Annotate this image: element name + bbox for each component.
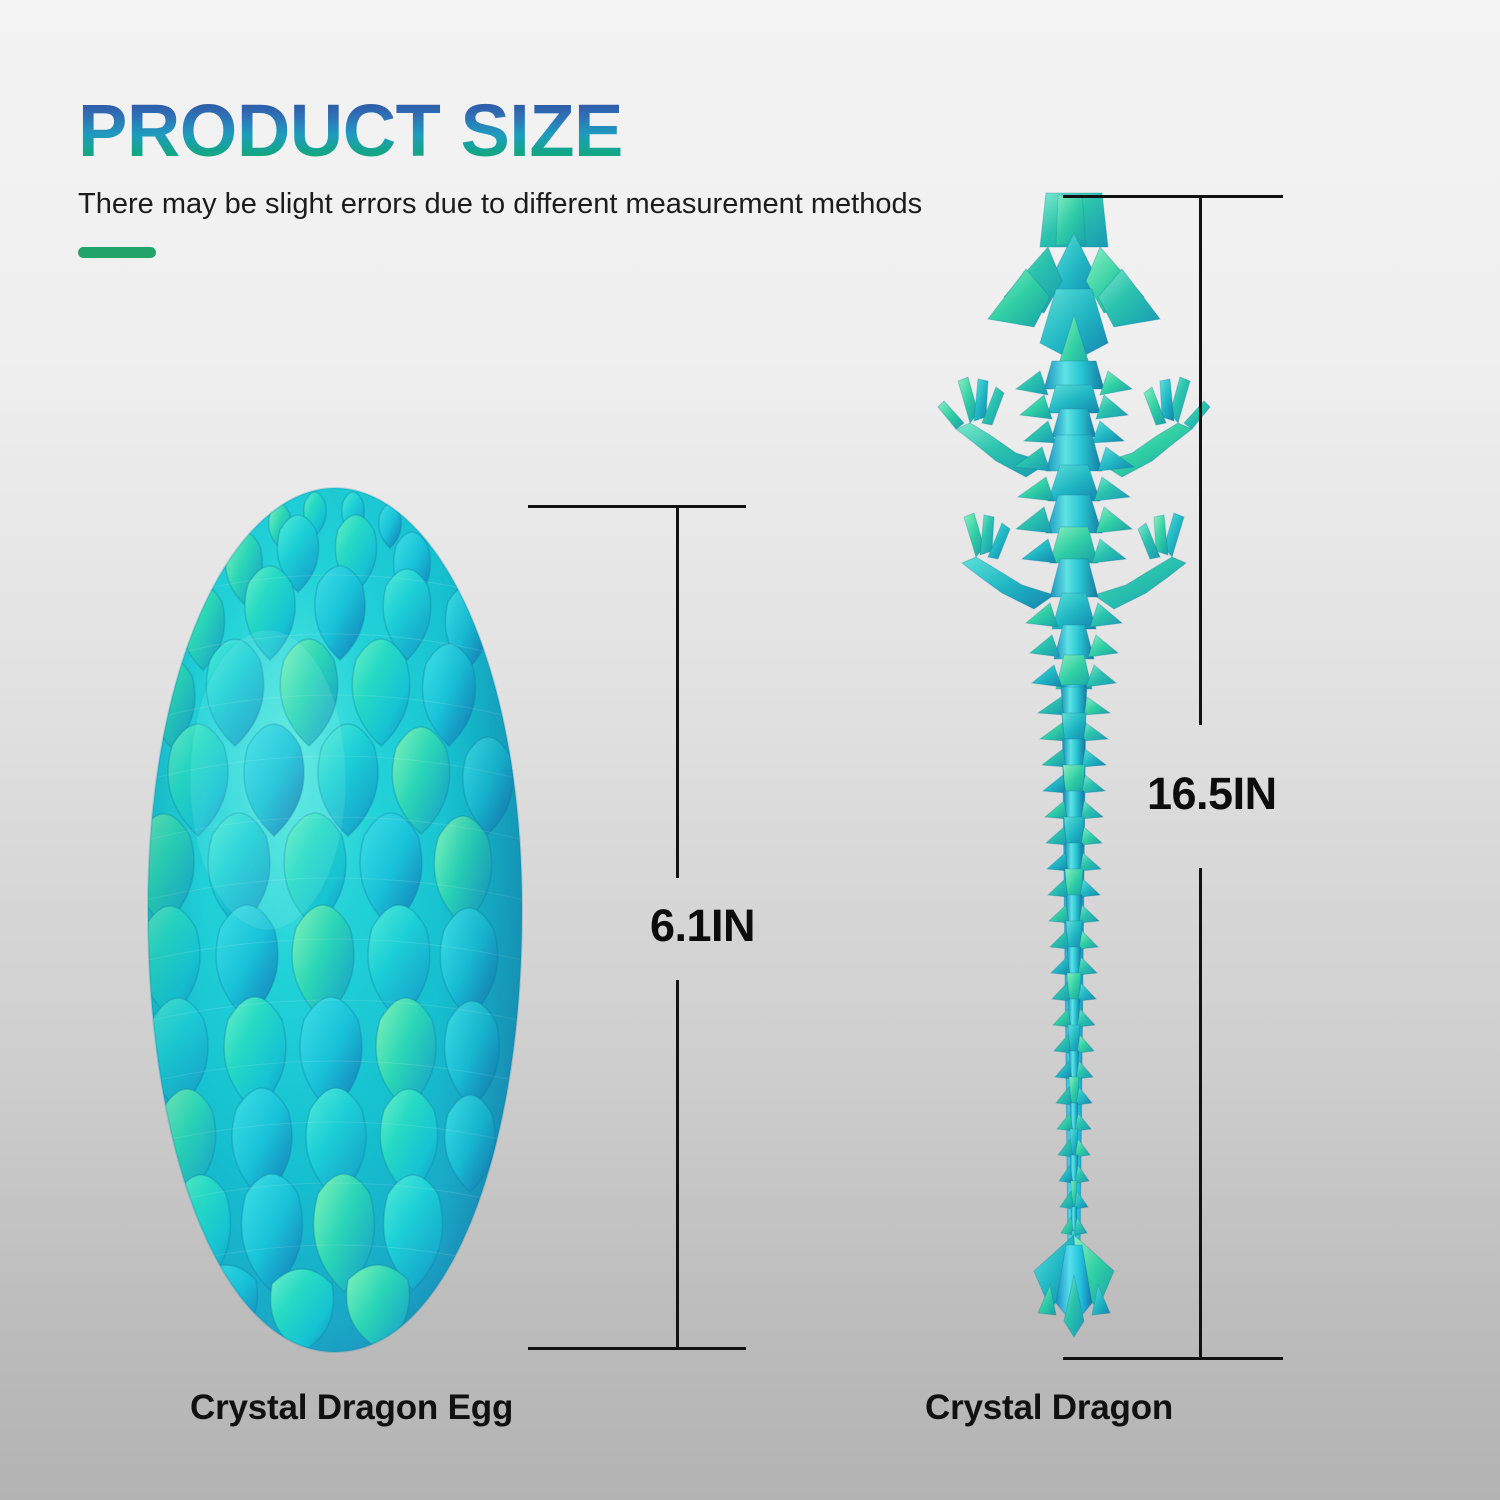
egg-dimension-line-lower bbox=[676, 980, 679, 1350]
page-title: PRODUCT SIZE bbox=[78, 96, 623, 166]
egg-dimension-line-upper bbox=[676, 505, 679, 878]
caption-crystal-dragon-egg: Crystal Dragon Egg bbox=[190, 1388, 513, 1428]
page-subtitle: There may be slight errors due to differ… bbox=[78, 186, 938, 223]
egg-dimension-top-extension bbox=[528, 505, 746, 508]
dragon-dimension-line-upper bbox=[1199, 195, 1202, 725]
dragon-dimension-label: 16.5IN bbox=[1147, 768, 1277, 820]
egg-dimension-label: 6.1IN bbox=[650, 900, 755, 952]
accent-bar-divider bbox=[78, 247, 156, 258]
header-block: PRODUCT SIZE There may be slight errors … bbox=[78, 96, 978, 258]
dragon-dimension-line-lower bbox=[1199, 868, 1202, 1360]
caption-crystal-dragon: Crystal Dragon bbox=[925, 1388, 1173, 1428]
dragon-dimension-bottom-extension bbox=[1063, 1357, 1283, 1360]
egg-dimension-bottom-extension bbox=[528, 1347, 746, 1350]
dragon-dimension-top-extension bbox=[1063, 195, 1283, 198]
crystal-dragon-egg-image bbox=[100, 480, 570, 1360]
